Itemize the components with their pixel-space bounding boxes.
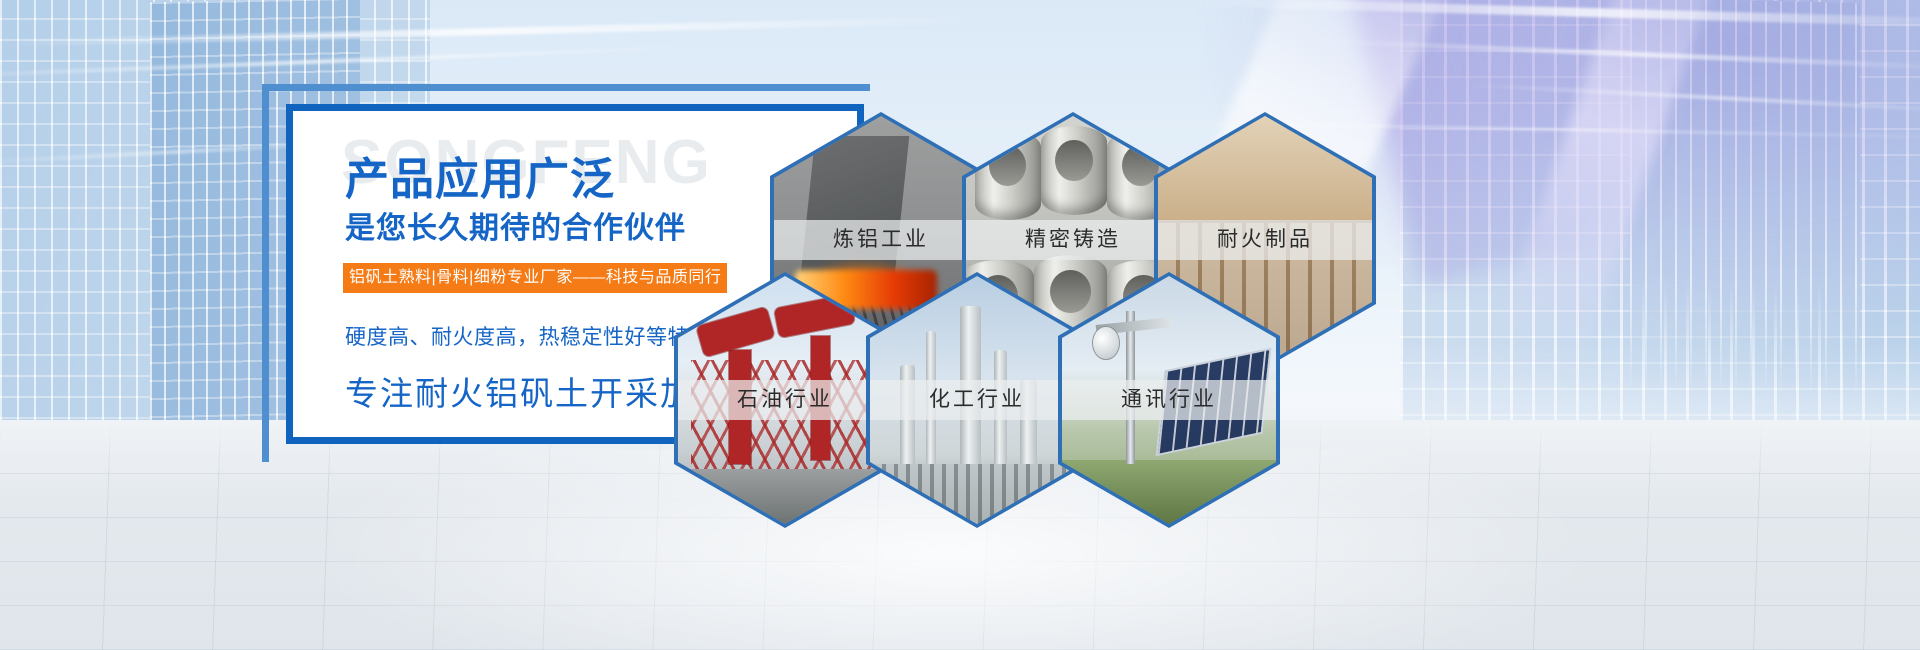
feature-text: 硬度高、耐火度高，热稳定性好等特性 [345,321,711,351]
tagline-badge: 铝矾土熟料|骨料|细粉专业厂家——科技与品质同行 [343,263,727,293]
headline: 产品应用广泛 [345,143,615,207]
focus-text: 专注耐火铝矾土开采加工 [345,367,730,415]
subheadline: 是您长久期待的合作伙伴 [345,203,686,247]
hexagon-label: 炼铝工业 [774,220,988,260]
promotional-banner: SONGFENG 产品应用广泛 是您长久期待的合作伙伴 铝矾土熟料|骨料|细粉专… [0,0,1920,650]
antenna-dish-icon [1092,326,1120,361]
chemical-plant-base [870,464,1084,524]
oil-field-ground [678,469,892,524]
hexagon-label: 通讯行业 [1062,380,1276,420]
casting-cylinder [975,131,1041,220]
hexagon-label: 石油行业 [678,380,892,420]
casting-cylinder [1041,126,1107,215]
hexagon-label: 精密铸造 [966,220,1180,260]
telecom-ground [1062,460,1276,524]
hexagon-label: 耐火制品 [1158,220,1372,260]
industry-hexagon-cluster: 炼铝工业 精密铸造 耐火制品 [700,90,1400,530]
hexagon-label: 化工行业 [870,380,1084,420]
